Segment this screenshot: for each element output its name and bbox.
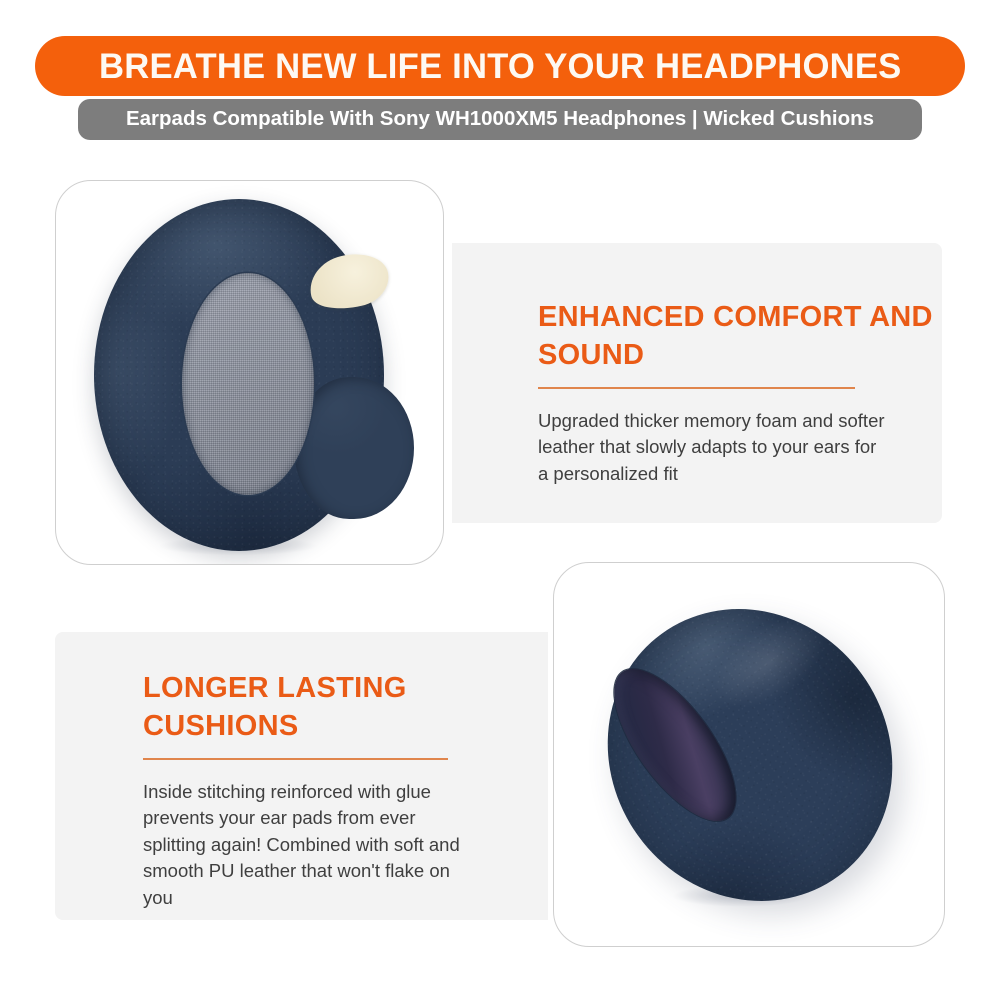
feature-heading-enhanced-comfort: ENHANCED COMFORT AND SOUND: [538, 299, 942, 374]
earpad-front-illustration: [56, 181, 443, 564]
feature-divider-rule: [143, 758, 448, 760]
product-image-card-front-view: [55, 180, 444, 565]
feature-body-enhanced-comfort: Upgraded thicker memory foam and softer …: [538, 408, 888, 487]
headline-text: BREATHE NEW LIFE INTO YOUR HEADPHONES: [99, 49, 901, 84]
earpad-angled-leather-ring: [553, 562, 945, 947]
headline-banner: BREATHE NEW LIFE INTO YOUR HEADPHONES: [35, 36, 965, 96]
earpad-angled-illustration: [554, 563, 944, 946]
feature-heading-longer-lasting: LONGER LASTING CUSHIONS: [143, 670, 548, 745]
product-image-card-angled-view: [553, 562, 945, 947]
feature-divider-rule: [538, 387, 855, 389]
feature-panel-enhanced-comfort: ENHANCED COMFORT AND SOUND Upgraded thic…: [452, 243, 942, 523]
feature-body-longer-lasting: Inside stitching reinforced with glue pr…: [143, 779, 463, 911]
subheadline-banner: Earpads Compatible With Sony WH1000XM5 H…: [78, 99, 922, 140]
feature-panel-longer-lasting: LONGER LASTING CUSHIONS Inside stitching…: [55, 632, 548, 920]
subheadline-text: Earpads Compatible With Sony WH1000XM5 H…: [126, 109, 874, 130]
product-infographic: BREATHE NEW LIFE INTO YOUR HEADPHONES Ea…: [0, 0, 1000, 1000]
earpad-front-mesh-oval: [182, 273, 314, 495]
